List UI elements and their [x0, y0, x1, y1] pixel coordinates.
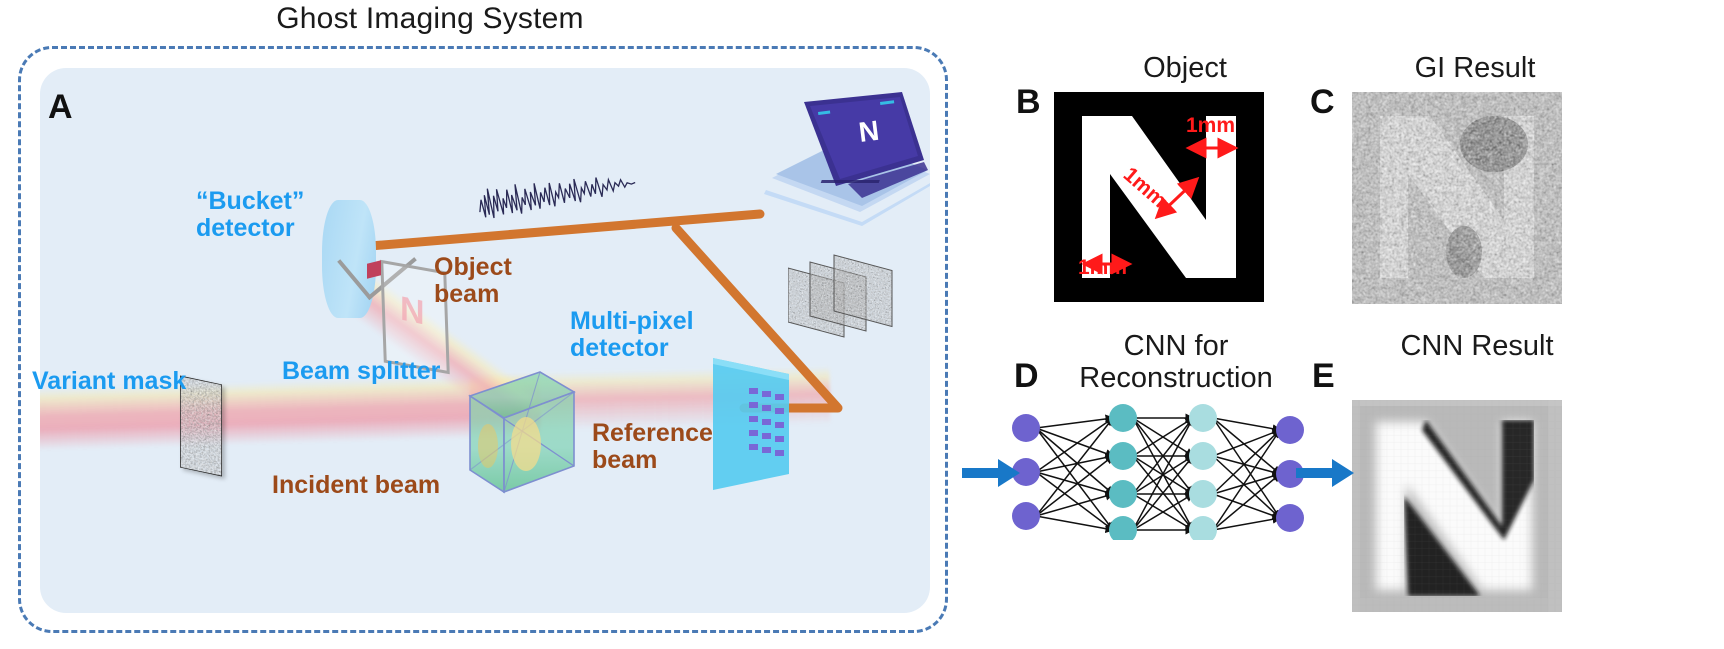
gi-result-pixel-grid: [1352, 92, 1562, 304]
dimension-label-bottom-left: 1mm: [1078, 256, 1127, 280]
object-slide-n-glyph: N: [400, 289, 425, 333]
label-object-beam: Object beam: [434, 254, 512, 308]
figure-root: Ghost Imaging System: [0, 0, 1724, 649]
cnn-network-diagram: [1008, 404, 1308, 540]
panel-d-title: CNN for Reconstruction: [1046, 330, 1306, 395]
multi-pixel-detector: [705, 352, 795, 492]
panel-a-stage: N: [40, 68, 930, 613]
cnn-hidden-layer-1-nodes: [1109, 404, 1137, 540]
dimension-label-top-right: 1mm: [1186, 114, 1235, 138]
output-flow-arrow: [1296, 456, 1356, 490]
panel-b-title: Object: [1060, 52, 1310, 84]
panel-letter-a: A: [48, 88, 73, 127]
laptop-computer: N: [752, 86, 930, 226]
beam-splitter-cube: [462, 368, 582, 496]
svg-text:N: N: [857, 115, 881, 148]
label-variant-mask: Variant mask: [32, 368, 186, 395]
cnn-result-image: [1352, 400, 1562, 612]
label-multi-pixel-detector: Multi-pixel detector: [570, 308, 694, 362]
variant-mask-plate: [180, 376, 222, 477]
label-beam-splitter: Beam splitter: [282, 358, 440, 385]
figure-title: Ghost Imaging System: [150, 2, 710, 36]
label-incident-beam: Incident beam: [272, 472, 440, 499]
panel-letter-b: B: [1016, 83, 1041, 122]
input-flow-arrow: [962, 456, 1022, 490]
panel-letter-d: D: [1014, 357, 1039, 396]
label-bucket-detector: “Bucket” detector: [196, 188, 304, 242]
speckle-pattern-stack: [788, 252, 902, 344]
panel-letter-c: C: [1310, 83, 1335, 122]
cnn-hidden-layer-2-nodes: [1189, 404, 1217, 540]
panel-letter-e: E: [1312, 357, 1335, 396]
panel-e-title: CNN Result: [1352, 330, 1602, 362]
panel-c-title: GI Result: [1350, 52, 1600, 84]
signal-waveform: [476, 166, 640, 220]
label-reference-beam: Reference beam: [592, 420, 713, 474]
